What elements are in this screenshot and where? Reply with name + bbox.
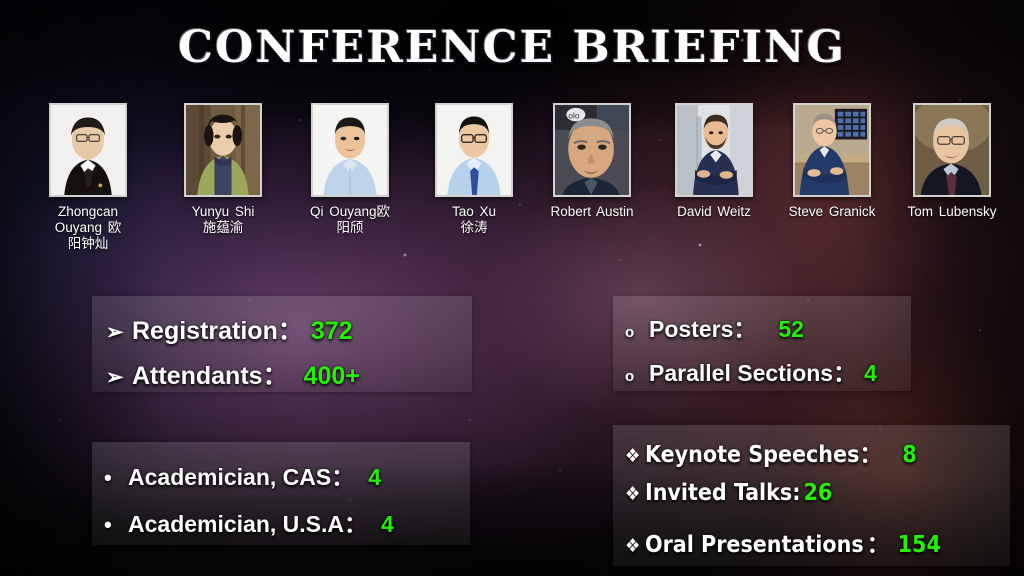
posters-sections-panel: o Posters ： 52 o Parallel Sections ： 4 [613, 296, 911, 391]
speaker-name: Steve Granick [784, 204, 880, 220]
portrait-tom-lubensky-photo [913, 103, 991, 197]
speaker-name-en: Robert Austin [550, 204, 633, 219]
arrow-bullet-icon: ➢ [106, 320, 132, 345]
portrait-qi-ouyang-photo [311, 103, 389, 197]
stat-label: Posters [649, 316, 733, 343]
speaker-name: Qi Ouyang欧 阳颀 [302, 204, 398, 236]
stat-value: 400+ [304, 362, 360, 391]
stat-row-invited-talks: ❖ Invited Talks: 26 [625, 480, 832, 506]
stat-label: Keynote Speeches [645, 442, 859, 468]
speaker-name-en: Qi Ouyang欧 [310, 204, 390, 219]
stat-separator: ： [278, 311, 303, 347]
speaker-name-en: Tao Xu [452, 204, 496, 219]
svg-text:olo: olo [568, 110, 580, 120]
speaker-portrait-strip: Zhongcan Ouyang 欧 阳钟灿 [40, 103, 1000, 248]
circle-bullet-icon: o [625, 324, 649, 341]
stat-value: 4 [864, 360, 877, 387]
speaker-name-en: Yunyu Shi [192, 204, 255, 219]
dot-bullet-icon: • [104, 465, 128, 491]
diamond-bullet-icon: ❖ [625, 445, 645, 467]
portrait-robert-austin-photo: olo [553, 103, 631, 197]
stat-row-oral-presentations: ❖ Oral Presentations ： 154 [625, 525, 941, 559]
talks-stats-panel: ❖ Keynote Speeches ： 8 ❖ Invited Talks: … [613, 425, 1010, 566]
speaker-name: Tao Xu 徐涛 [426, 204, 522, 236]
stat-label: Attendants [132, 362, 263, 391]
circle-bullet-icon: o [625, 368, 649, 385]
dot-bullet-icon: • [104, 512, 128, 538]
stat-row-keynote-speeches: ❖ Keynote Speeches ： 8 [625, 435, 917, 469]
speaker-name: Tom Lubensky [904, 204, 1000, 220]
stat-separator: ： [263, 356, 288, 392]
page-title: CONFERENCE BRIEFING [0, 22, 1024, 73]
speaker-card[interactable]: olo Robert Austin [544, 103, 640, 220]
portrait-steve-granick-photo [793, 103, 871, 197]
diamond-bullet-icon: ❖ [625, 535, 645, 557]
speaker-name-en: David Weitz [677, 204, 751, 219]
speaker-name: Zhongcan Ouyang 欧 阳钟灿 [40, 204, 136, 252]
stat-label: Academician, U.S.A [128, 511, 344, 538]
speaker-name-en: Steve Granick [789, 204, 876, 219]
stat-label: Academician, CAS [128, 464, 331, 491]
speaker-name-cn: 阳颀 [337, 220, 364, 235]
stat-separator: ： [867, 525, 890, 559]
portrait-david-weitz-photo [675, 103, 753, 197]
speaker-card[interactable]: Qi Ouyang欧 阳颀 [302, 103, 398, 236]
speaker-card[interactable]: Steve Granick [784, 103, 880, 220]
stat-value: 52 [778, 316, 804, 343]
speaker-card[interactable]: David Weitz [666, 103, 762, 220]
speaker-name: David Weitz [666, 204, 762, 220]
stat-row-registration: ➢ Registration ： 372 [106, 311, 353, 347]
arrow-bullet-icon: ➢ [106, 365, 132, 390]
stat-row-academician-usa: • Academician, U.S.A ： 4 [104, 505, 394, 539]
registration-stats-panel: ➢ Registration ： 372 ➢ Attendants ： 400+ [92, 296, 472, 392]
stat-value: 8 [902, 442, 916, 468]
stat-value: 4 [381, 511, 394, 538]
speaker-card[interactable]: Zhongcan Ouyang 欧 阳钟灿 [40, 103, 136, 252]
stat-label: Oral Presentations [645, 532, 864, 558]
speaker-name: Robert Austin [544, 204, 640, 220]
speaker-name-cn: 阳钟灿 [68, 236, 109, 251]
stat-row-posters: o Posters ： 52 [625, 310, 804, 344]
speaker-card[interactable]: Yunyu Shi 施蕴渝 [175, 103, 271, 236]
stat-separator: ： [331, 458, 354, 492]
speaker-name: Yunyu Shi 施蕴渝 [175, 204, 271, 236]
academician-stats-panel: • Academician, CAS ： 4 • Academician, U.… [92, 442, 470, 545]
stat-row-academician-cas: • Academician, CAS ： 4 [104, 458, 381, 492]
stat-label: Parallel Sections [649, 360, 833, 387]
speaker-name-cn: 徐涛 [461, 220, 488, 235]
portrait-yunyu-shi-photo [184, 103, 262, 197]
stat-label: Invited Talks: [645, 480, 801, 506]
speaker-card[interactable]: Tom Lubensky [904, 103, 1000, 220]
stat-value: 372 [311, 317, 353, 346]
speaker-name-cn: 施蕴渝 [203, 220, 244, 235]
speaker-name-en: Zhongcan Ouyang 欧 [55, 204, 122, 235]
stat-separator: ： [344, 505, 367, 539]
stat-value: 26 [804, 480, 833, 506]
stat-separator: ： [733, 310, 756, 344]
speaker-name-en: Tom Lubensky [907, 204, 996, 219]
stat-row-parallel-sections: o Parallel Sections ： 4 [625, 354, 877, 388]
conference-briefing-slide: CONFERENCE BRIEFING Zhongcan [0, 0, 1024, 576]
stat-separator: ： [833, 354, 856, 388]
diamond-bullet-icon: ❖ [625, 483, 645, 505]
speaker-card[interactable]: Tao Xu 徐涛 [426, 103, 522, 236]
portrait-zhongcan-ouyang-photo [49, 103, 127, 197]
stat-value: 4 [368, 464, 381, 491]
stat-value: 154 [898, 532, 941, 558]
portrait-tao-xu-photo [435, 103, 513, 197]
stat-separator: ： [859, 435, 882, 469]
stat-label: Registration [132, 317, 278, 346]
stat-row-attendants: ➢ Attendants ： 400+ [106, 356, 360, 392]
